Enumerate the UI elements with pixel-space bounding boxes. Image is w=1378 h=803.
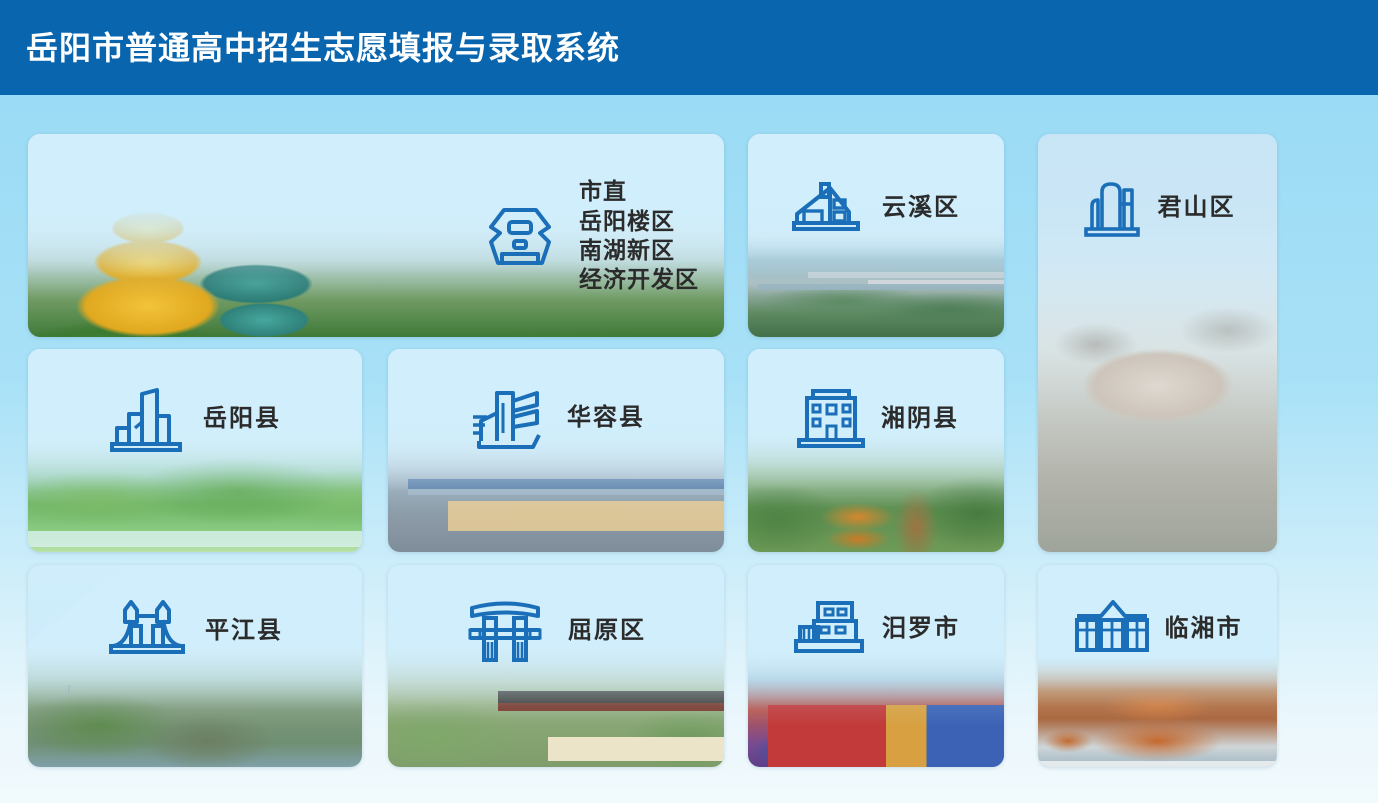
district-card-pingjiang[interactable]: 平江县 [28,565,362,767]
district-card-junshan[interactable]: 君山区 [1038,134,1277,552]
app-header: 岳阳市普通高中招生志愿填报与录取系统 [0,0,1378,95]
photo-overlay [1038,134,1277,552]
district-card-grid: 市直 岳阳楼区 南湖新区 经济开发区 [0,95,1378,803]
application-root: 岳阳市普通高中招生志愿填报与录取系统 市直 岳阳楼区 南湖新区 经济开发区 [0,0,1378,803]
district-card-shizhi[interactable]: 市直 岳阳楼区 南湖新区 经济开发区 [28,134,724,337]
district-card-xiangyin[interactable]: 湘阴县 [748,349,1004,552]
district-card-huarong[interactable]: 华容县 [388,349,724,552]
photo-overlay [28,349,362,552]
district-card-linxiang[interactable]: 临湘市 [1038,565,1277,767]
district-card-quyuan[interactable]: 屈原区 [388,565,724,767]
photo-overlay [28,565,362,767]
district-card-yueyangxian[interactable]: 岳阳县 [28,349,362,552]
photo-overlay [748,565,1004,767]
photo-overlay [1038,565,1277,767]
district-card-miluo[interactable]: 汨罗市 [748,565,1004,767]
page-body: 市直 岳阳楼区 南湖新区 经济开发区 [0,95,1378,803]
page-title: 岳阳市普通高中招生志愿填报与录取系统 [26,32,620,64]
district-card-yunxi[interactable]: 云溪区 [748,134,1004,337]
photo-overlay [388,565,724,767]
photo-overlay [748,349,1004,552]
photo-overlay [388,349,724,552]
photo-overlay [28,134,724,337]
photo-overlay [748,134,1004,337]
